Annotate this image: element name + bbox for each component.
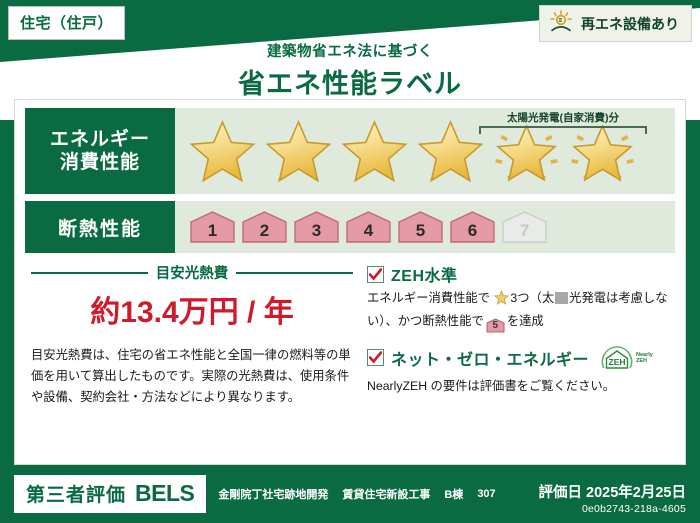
insulation-level-chip: 3 <box>293 210 340 244</box>
footer-work-name: 賃貸住宅新設工事 <box>342 486 430 502</box>
category-chip: 住宅（住戸） <box>8 6 125 40</box>
star-icon <box>261 113 336 189</box>
checkmark-icon <box>367 349 384 366</box>
checkmark-icon <box>367 266 384 283</box>
zeh-logo-sublabel: Nearly ZEH <box>636 352 653 365</box>
energy-consumption-row: エネルギー 消費性能 太陽光発電(自家消費)分 <box>25 108 675 194</box>
insulation-level-scale: 1 2 3 4 5 <box>175 201 675 253</box>
zeh-netzero-title: ネット・ゼロ・エネルギー <box>391 346 589 370</box>
renewable-equipment-badge: 再エネ設備あり <box>539 5 692 42</box>
insulation-level-value: 2 <box>260 221 269 241</box>
insulation-level-chip: 2 <box>241 210 288 244</box>
sun-icon <box>548 10 574 37</box>
insulation-level-value: 5 <box>416 221 425 241</box>
label-header: 建築物省エネ法に基づく 省エネ性能ラベル <box>0 40 700 101</box>
footer-project-meta: 金剛院丁社宅跡地開発 賃貸住宅新設工事 B棟 307 <box>218 486 495 502</box>
insulation-label-text: 断熱性能 <box>58 214 142 241</box>
zeh-desc-part1: エネルギー消費性能で <box>367 291 490 305</box>
utility-cost-column: 目安光熱費 約13.4万円 / 年 目安光熱費は、住宅の省エネ性能と全国一律の燃… <box>15 262 367 408</box>
rule-right <box>236 272 353 274</box>
energy-consumption-label: エネルギー 消費性能 <box>25 108 175 194</box>
renewable-badge-label: 再エネ設備あり <box>581 14 679 34</box>
zeh-logo-sub-line2: ZEH <box>636 358 647 364</box>
svg-text:ZEH: ZEH <box>609 357 626 367</box>
zeh-netzero-description: NearlyZEH の要件は評価書をご覧ください。 <box>367 377 675 397</box>
solar-annotation: 太陽光発電(自家消費)分 <box>473 110 653 134</box>
insulation-level-value: 4 <box>364 221 373 241</box>
energy-performance-label: 住宅（住戸） 再エネ設備あり 建築物省エネ法に基づく 省エネ性能ラベル <box>0 0 700 523</box>
insulation-level-value: 1 <box>208 221 217 241</box>
zeh-netzero-block: ネット・ゼロ・エネルギー ZEH Nearly ZEH <box>367 345 675 397</box>
zeh-desc-level-value: 5 <box>493 320 499 331</box>
utility-cost-note: 目安光熱費は、住宅の省エネ性能と全国一律の燃料等の単価を用いて算出したものです。… <box>31 345 353 408</box>
footer-eval-id: 0e0b2743-218a-4605 <box>539 503 686 515</box>
lower-section: 目安光熱費 約13.4万円 / 年 目安光熱費は、住宅の省エネ性能と全国一律の燃… <box>15 262 685 408</box>
star-icon <box>185 113 260 189</box>
insulation-level-chip: 5 <box>397 210 444 244</box>
zeh-standard-description: エネルギー消費性能で 3つ（太光発電は考慮しない）、かつ断熱性能で 5 を達成 <box>367 289 675 333</box>
redaction-block <box>555 292 568 304</box>
insulation-level-chip: 1 <box>189 210 236 244</box>
utility-cost-heading-label: 目安光熱費 <box>156 262 229 283</box>
insulation-level-value: 7 <box>520 221 529 241</box>
insulation-level-value: 3 <box>312 221 321 241</box>
label-body: エネルギー 消費性能 太陽光発電(自家消費)分 <box>14 99 686 465</box>
bels-badge-jp: 第三者評価 <box>26 480 126 507</box>
zeh-standard-block: ZEH水準 エネルギー消費性能で 3つ（太光発電は考慮しない）、かつ断熱性能で … <box>367 262 675 333</box>
solar-bracket-icon <box>479 126 647 134</box>
footer-unit: 307 <box>477 488 495 500</box>
zeh-logo-sub-line1: Nearly <box>636 352 653 358</box>
zeh-desc-star-count: 3つ（太 <box>510 291 554 305</box>
page-title: 省エネ性能ラベル <box>0 62 700 101</box>
footer-eval-date: 評価日 2025年2月25日 <box>539 481 686 502</box>
insulation-performance-row: 断熱性能 1 2 3 4 <box>25 201 675 253</box>
header-subtitle: 建築物省エネ法に基づく <box>0 40 700 61</box>
utility-cost-heading: 目安光熱費 <box>31 262 353 283</box>
insulation-level-chip: 4 <box>345 210 392 244</box>
zeh-standard-title: ZEH水準 <box>391 262 458 286</box>
zeh-column: ZEH水準 エネルギー消費性能で 3つ（太光発電は考慮しない）、かつ断熱性能で … <box>367 262 685 408</box>
bels-badge-en: BELS <box>135 480 194 507</box>
solar-annotation-label: 太陽光発電(自家消費)分 <box>473 110 653 125</box>
rule-left <box>31 272 148 274</box>
zeh-desc-part3: を達成 <box>507 314 544 328</box>
zeh-netzero-header: ネット・ゼロ・エネルギー ZEH Nearly ZEH <box>367 345 675 371</box>
utility-cost-amount: 約13.4万円 / 年 <box>31 287 353 331</box>
zeh-standard-header: ZEH水準 <box>367 262 675 286</box>
category-chip-label: 住宅（住戸） <box>20 15 113 32</box>
insulation-level-chip-inline: 5 <box>486 318 505 333</box>
footer-project-name: 金剛院丁社宅跡地開発 <box>218 486 328 502</box>
energy-consumption-value: 太陽光発電(自家消費)分 <box>175 108 675 194</box>
zeh-house-logo-icon: ZEH Nearly ZEH <box>600 345 653 371</box>
energy-label-line2: 消費性能 <box>60 151 140 174</box>
footer-building: B棟 <box>444 486 463 502</box>
star-icon <box>337 113 412 189</box>
energy-label-line1: エネルギー <box>50 128 150 151</box>
label-footer: 第三者評価 BELS 金剛院丁社宅跡地開発 賃貸住宅新設工事 B棟 307 評価… <box>0 465 700 523</box>
insulation-performance-label: 断熱性能 <box>25 201 175 253</box>
footer-evaluation-meta: 評価日 2025年2月25日 0e0b2743-218a-4605 <box>539 481 686 515</box>
insulation-level-chip: 6 <box>449 210 496 244</box>
insulation-level-value: 6 <box>468 221 477 241</box>
insulation-level-chip-inactive: 7 <box>501 210 548 244</box>
star-icon-inline <box>494 290 509 312</box>
bels-badge: 第三者評価 BELS <box>14 475 206 513</box>
